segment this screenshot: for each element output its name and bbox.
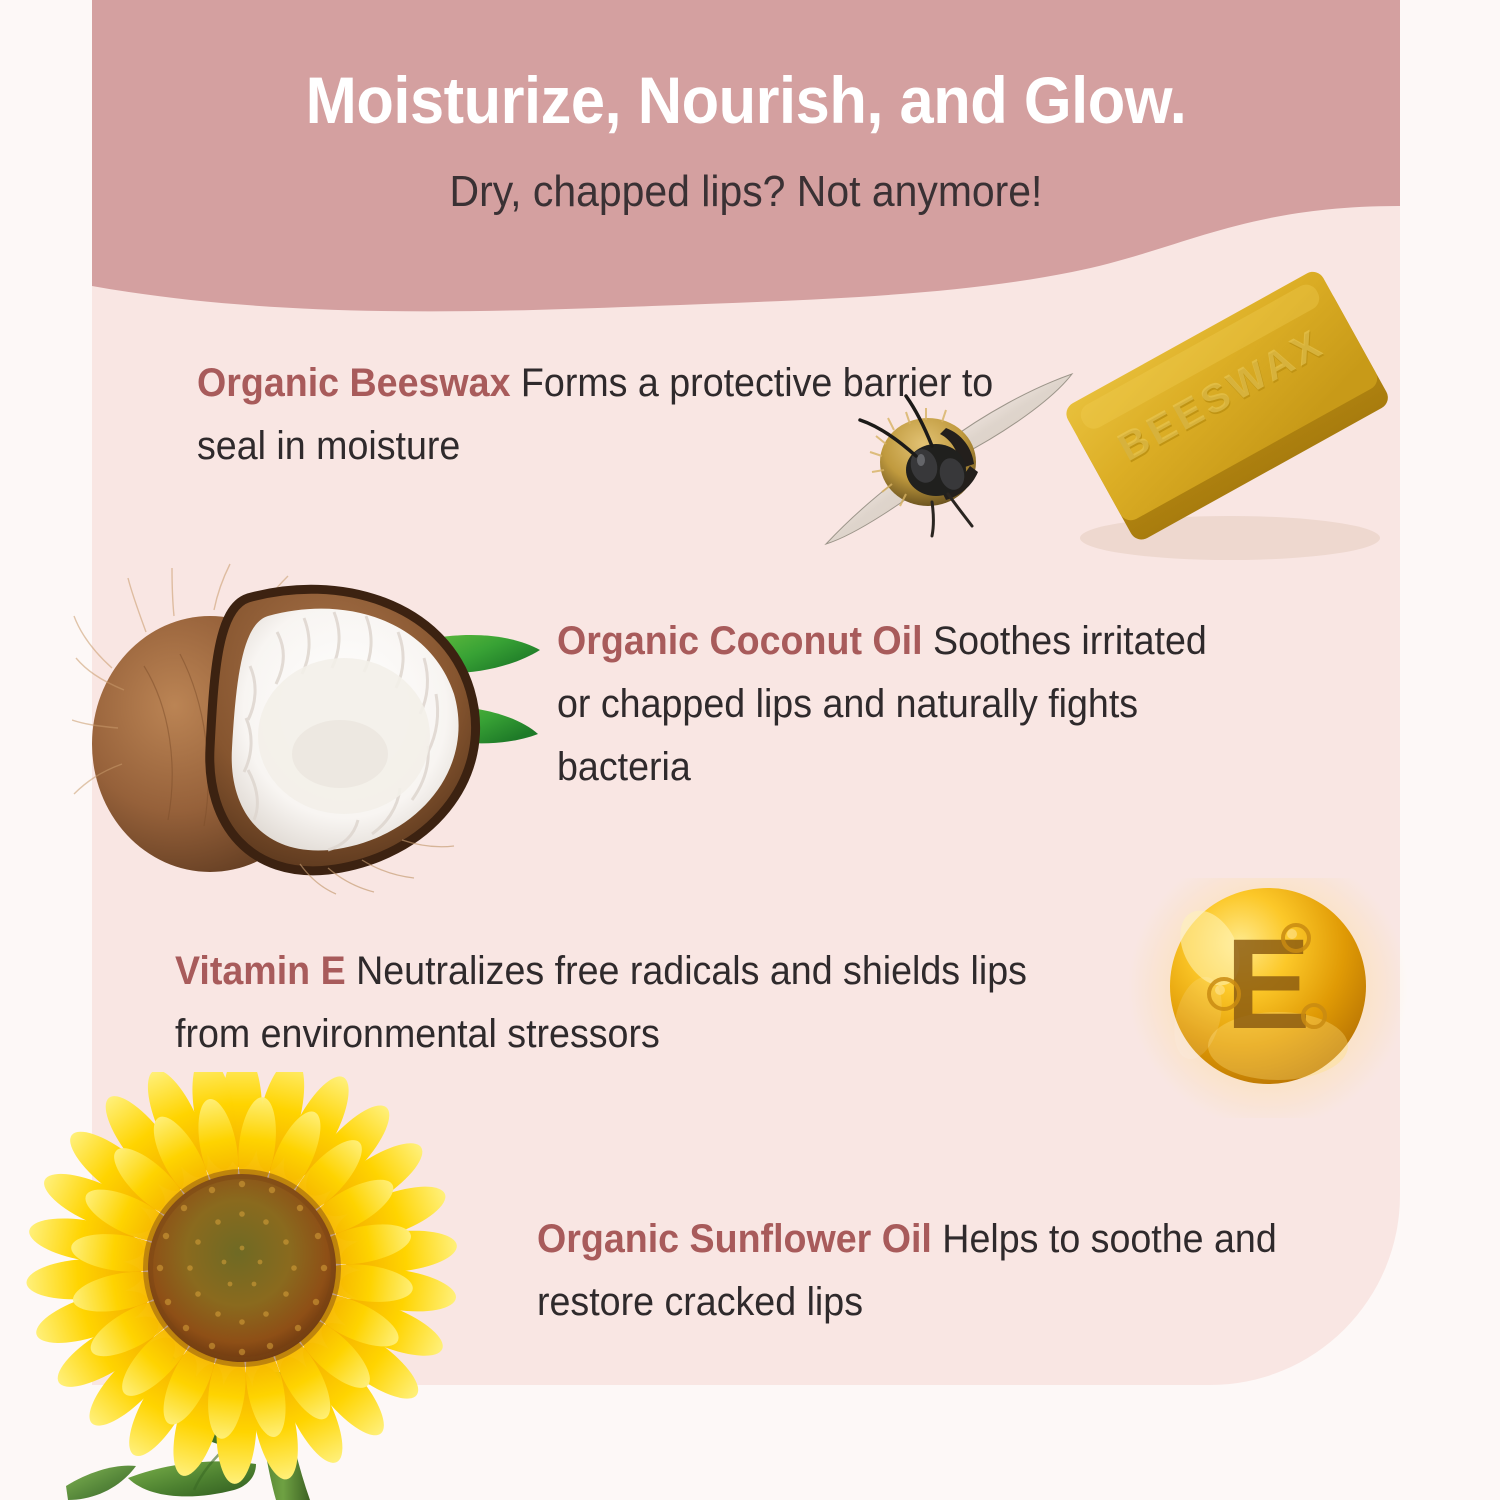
sunflower-image	[10, 1072, 490, 1500]
ingredient-vitamin-e-name: Vitamin E	[175, 949, 346, 993]
ingredient-beeswax-name: Organic Beeswax	[197, 361, 510, 405]
ingredient-beeswax-text: Organic Beeswax Forms a protective barri…	[197, 352, 1024, 478]
vitamin-e-droplet-image: E	[1128, 878, 1418, 1118]
ingredient-coconut-name: Organic Coconut Oil	[557, 619, 923, 663]
ingredient-vitamin-e-text: Vitamin E Neutralizes free radicals and …	[175, 940, 1106, 1066]
ingredient-sunflower-text: Organic Sunflower Oil Helps to soothe an…	[537, 1208, 1280, 1334]
sunflower-leaf-corner	[66, 1466, 136, 1500]
vitamin-e-letter: E	[1225, 913, 1310, 1056]
coconut-image	[72, 558, 542, 898]
ingredient-coconut-text: Organic Coconut Oil Soothes irritated or…	[557, 610, 1243, 800]
infographic-page: Moisturize, Nourish, and Glow. Dry, chap…	[0, 0, 1500, 1500]
beeswax-bar-image: BEESWAX BEESWAX	[1040, 248, 1410, 578]
ingredient-sunflower-name: Organic Sunflower Oil	[537, 1217, 932, 1261]
